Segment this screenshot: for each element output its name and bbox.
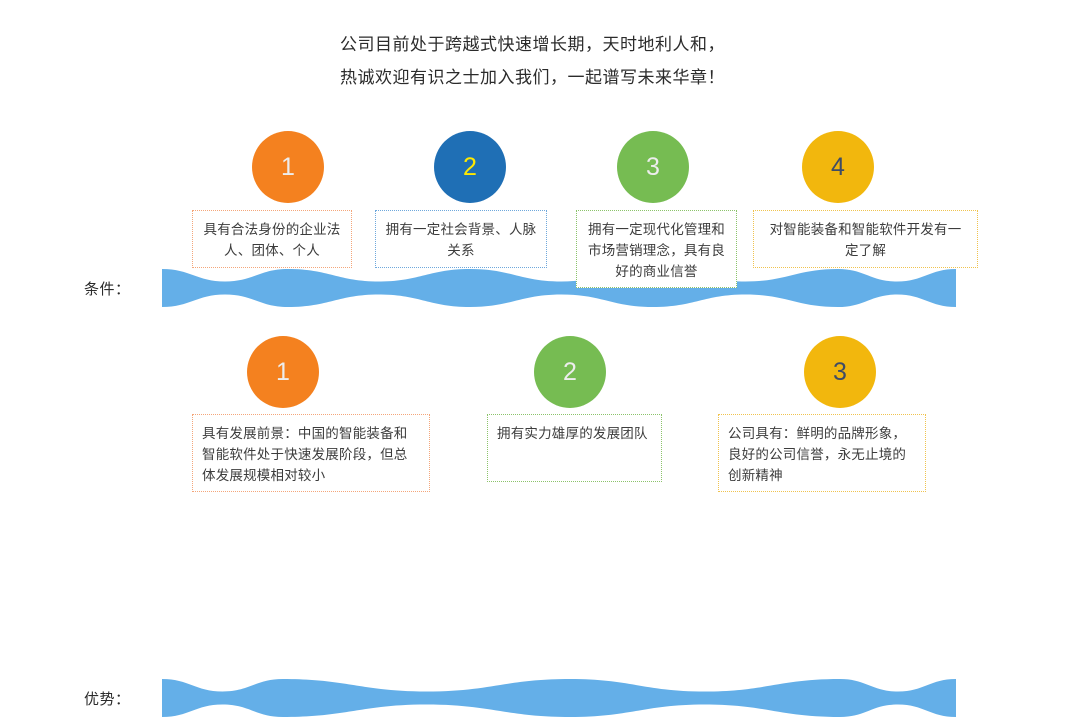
step-number: 1: [281, 155, 295, 180]
step-circle-advantages-3[interactable]: 3: [804, 336, 876, 408]
row-label-advantages: 优势：: [84, 688, 131, 709]
step-number: 4: [831, 155, 845, 180]
ribbon-conditions: [162, 262, 956, 314]
step-caption-conditions-3: 拥有一定现代化管理和市场营销理念，具有良好的商业信誉: [576, 210, 737, 288]
step-number: 3: [646, 155, 660, 180]
step-circle-conditions-2[interactable]: 2: [434, 131, 506, 203]
page-title: 公司目前处于跨越式快速增长期，天时地利人和， 热诚欢迎有识之士加入我们，一起谱写…: [0, 28, 1065, 94]
step-circle-advantages-2[interactable]: 2: [534, 336, 606, 408]
infographic-canvas: 公司目前处于跨越式快速增长期，天时地利人和， 热诚欢迎有识之士加入我们，一起谱写…: [0, 0, 1065, 559]
step-caption-advantages-2: 拥有实力雄厚的发展团队: [487, 414, 662, 482]
step-number: 2: [463, 155, 477, 180]
heading-line-2: 热诚欢迎有识之士加入我们，一起谱写未来华章！: [0, 61, 1065, 94]
step-caption-conditions-2: 拥有一定社会背景、人脉关系: [375, 210, 547, 268]
step-caption-advantages-3: 公司具有：鲜明的品牌形象，良好的公司信誉，永无止境的创新精神: [718, 414, 926, 492]
step-caption-advantages-1: 具有发展前景：中国的智能装备和智能软件处于快速发展阶段，但总体发展规模相对较小: [192, 414, 430, 492]
row-advantages: 优势： 123 具有发展前景：中国的智能装备和智能软件处于快速发展阶段，但总体发…: [0, 325, 1065, 515]
row-label-conditions: 条件：: [84, 278, 131, 299]
heading-line-1: 公司目前处于跨越式快速增长期，天时地利人和，: [0, 28, 1065, 61]
row-conditions: 条件： 1234 具有合法身份的企业法人、团体、个人拥有一定社会背景、人脉关系拥…: [0, 120, 1065, 300]
step-circle-conditions-4[interactable]: 4: [802, 131, 874, 203]
step-number: 2: [563, 360, 577, 385]
step-circle-conditions-1[interactable]: 1: [252, 131, 324, 203]
step-number: 1: [276, 360, 290, 385]
step-caption-conditions-1: 具有合法身份的企业法人、团体、个人: [192, 210, 352, 268]
step-caption-conditions-4: 对智能装备和智能软件开发有一定了解: [753, 210, 978, 268]
step-circle-advantages-1[interactable]: 1: [247, 336, 319, 408]
step-circle-conditions-3[interactable]: 3: [617, 131, 689, 203]
step-number: 3: [833, 360, 847, 385]
ribbon-advantages: [162, 672, 956, 724]
